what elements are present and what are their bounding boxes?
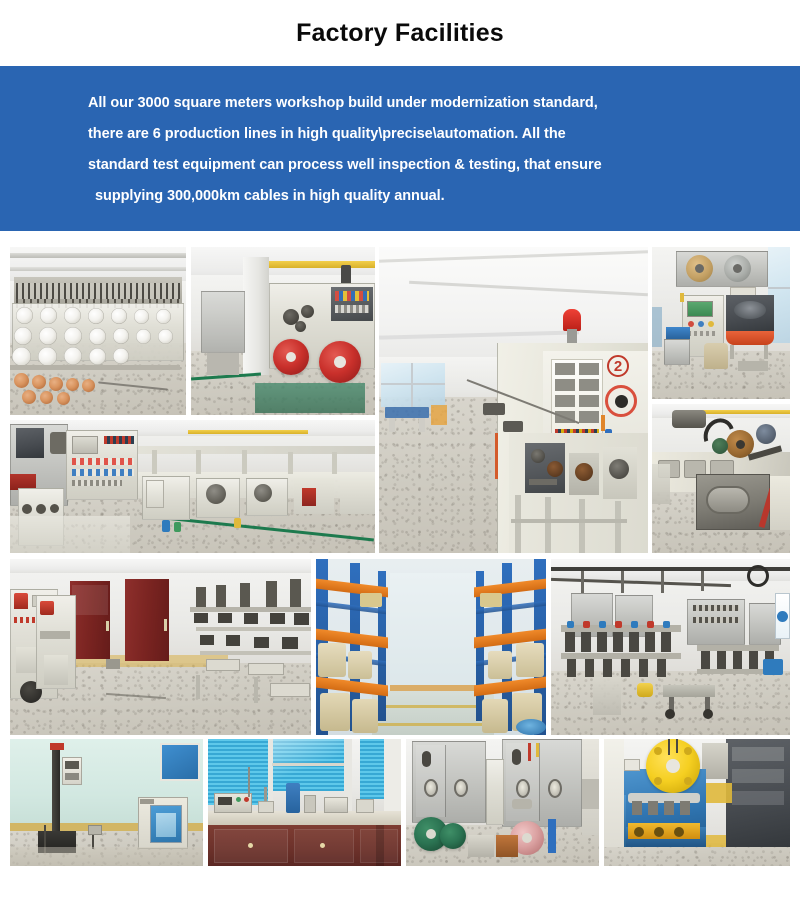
intro-line-3: standard test equipment can process well…: [88, 150, 756, 181]
gallery-photo-6[interactable]: Cable cooling trough line with drive whe…: [652, 404, 790, 553]
gallery-photo-5[interactable]: Wire drawing and extrusion workshop line…: [10, 420, 375, 553]
gallery-photo-1[interactable]: Wire winding machine room with rows of w…: [10, 247, 186, 415]
gallery-photo-13[interactable]: Blue stranding machine with large yellow…: [604, 739, 790, 866]
intro-banner: All our 3000 square meters workshop buil…: [0, 66, 800, 231]
page-title: Factory Facilities: [0, 0, 800, 66]
intro-line-4: supplying 300,000km cables in high quali…: [88, 181, 756, 212]
intro-line-2: there are 6 production lines in high qua…: [88, 119, 756, 150]
intro-line-1: All our 3000 square meters workshop buil…: [88, 88, 756, 119]
gallery-photo-3[interactable]: Long extrusion production line with cont…: [379, 247, 648, 553]
gallery-photo-9[interactable]: Braiding machine hall with overhead rail…: [551, 559, 790, 735]
gallery-photo-12[interactable]: Two grey cabinet machines with green and…: [406, 739, 599, 866]
gallery-photo-11[interactable]: Laboratory bench with instruments beside…: [208, 739, 401, 866]
factory-photo-collage: Wire winding machine room with rows of w…: [10, 247, 790, 866]
gallery-photo-10[interactable]: Testing laboratory with measuring stand …: [10, 739, 203, 866]
machine-number-badge: 2: [607, 355, 629, 377]
gallery-photo-7[interactable]: Workshop hall with stranding machines, r…: [10, 559, 311, 735]
gallery-photo-8[interactable]: Warehouse aisle with blue and orange pal…: [316, 559, 546, 735]
gallery-photo-2[interactable]: Cable taping machine with red reels and …: [191, 247, 375, 415]
gallery-photo-4[interactable]: Annealing machine with two large reel wh…: [652, 247, 790, 399]
